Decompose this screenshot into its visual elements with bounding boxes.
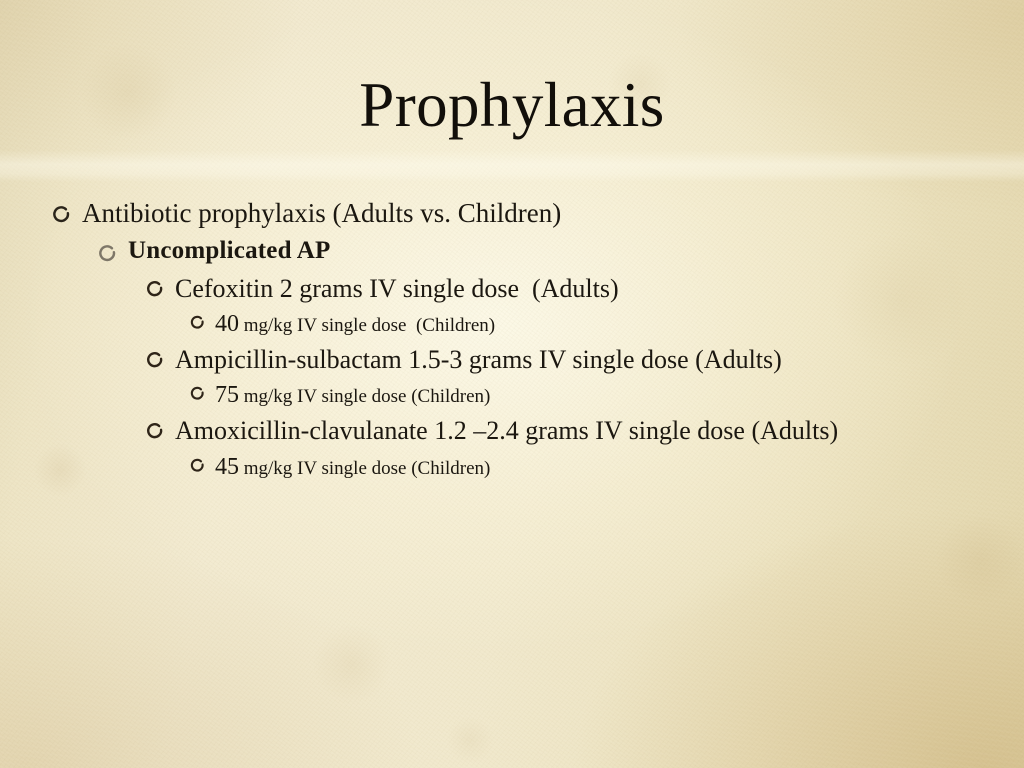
title-underband (0, 150, 1024, 182)
list-item: 45 mg/kg IV single dose (Children) (190, 451, 992, 483)
list-item: Antibiotic prophylaxis (Adults vs. Child… (52, 196, 992, 231)
dose-detail: mg/kg IV single dose (Children) (239, 386, 490, 407)
list-item-text: 45 mg/kg IV single dose (Children) (215, 451, 992, 483)
list-item-text: Antibiotic prophylaxis (Adults vs. Child… (82, 196, 992, 231)
open-ring-bullet-icon (52, 196, 82, 224)
list-item: Ampicillin-sulbactam 1.5-3 grams IV sing… (146, 343, 992, 376)
dose-number: 45 (215, 454, 239, 480)
open-ring-bullet-icon (190, 379, 215, 401)
dose-detail: mg/kg IV single dose (Children) (239, 315, 495, 336)
list-item-text: 75 mg/kg IV single dose (Children) (215, 379, 992, 411)
open-ring-bullet-icon (190, 451, 215, 473)
list-item-text: Ampicillin-sulbactam 1.5-3 grams IV sing… (175, 343, 992, 376)
list-item: 40 mg/kg IV single dose (Children) (190, 308, 992, 340)
list-item: Uncomplicated AP (98, 235, 992, 268)
list-item-text: Amoxicillin-clavulanate 1.2 –2.4 grams I… (175, 414, 935, 447)
list-item: 75 mg/kg IV single dose (Children) (190, 379, 992, 411)
open-ring-bullet-icon (190, 308, 215, 330)
slide-title: Prophylaxis (0, 72, 1024, 138)
open-ring-bullet-icon (146, 343, 175, 369)
list-item: Amoxicillin-clavulanate 1.2 –2.4 grams I… (146, 414, 992, 447)
list-item-text: Uncomplicated AP (128, 235, 992, 268)
open-ring-bullet-icon (146, 272, 175, 298)
list-item: Cefoxitin 2 grams IV single dose (Adults… (146, 272, 992, 305)
list-item-text: 40 mg/kg IV single dose (Children) (215, 308, 992, 340)
open-ring-bullet-icon (98, 235, 128, 263)
dose-detail: mg/kg IV single dose (Children) (239, 458, 490, 479)
dose-number: 40 (215, 311, 239, 337)
open-ring-bullet-icon (146, 414, 175, 440)
bullet-list: Antibiotic prophylaxis (Adults vs. Child… (52, 196, 992, 486)
dose-number: 75 (215, 382, 239, 408)
list-item-text: Cefoxitin 2 grams IV single dose (Adults… (175, 272, 992, 305)
slide-canvas: Prophylaxis Antibiotic prophylaxis (Adul… (0, 0, 1024, 768)
